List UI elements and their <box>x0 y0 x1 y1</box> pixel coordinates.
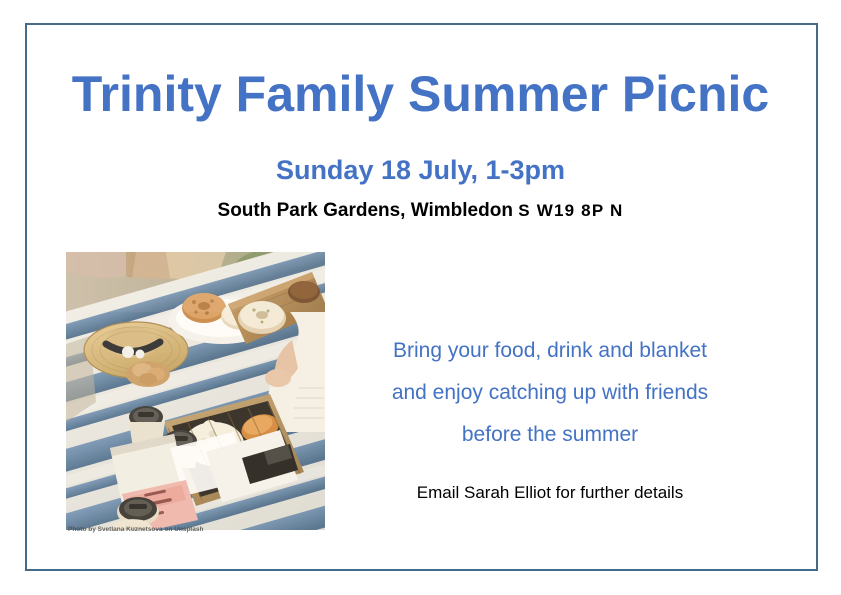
poster-canvas: Trinity Family Summer Picnic Sunday 18 J… <box>0 0 841 595</box>
event-date-time: Sunday 18 July, 1-3pm <box>0 155 841 186</box>
event-description-line-2: and enjoy catching up with friends <box>340 372 760 414</box>
picnic-photo <box>66 252 325 530</box>
page-title: Trinity Family Summer Picnic <box>0 68 841 121</box>
event-location-place: South Park Gardens, Wimbledon <box>218 200 519 221</box>
event-description-line-1: Bring your food, drink and blanket <box>340 330 760 372</box>
event-description-line-3: before the summer <box>340 414 760 456</box>
photo-credit: Photo by Svetlana Kuznetsova on Unsplash <box>68 526 338 533</box>
contact-line: Email Sarah Elliot for further details <box>340 483 760 503</box>
event-location-postcode: S W19 8P N <box>518 201 623 220</box>
event-location: South Park Gardens, Wimbledon S W19 8P N <box>0 200 841 222</box>
event-description: Bring your food, drink and blanket and e… <box>340 330 760 456</box>
picnic-photo-container: Photo by Svetlana Kuznetsova on Unsplash <box>66 252 325 530</box>
